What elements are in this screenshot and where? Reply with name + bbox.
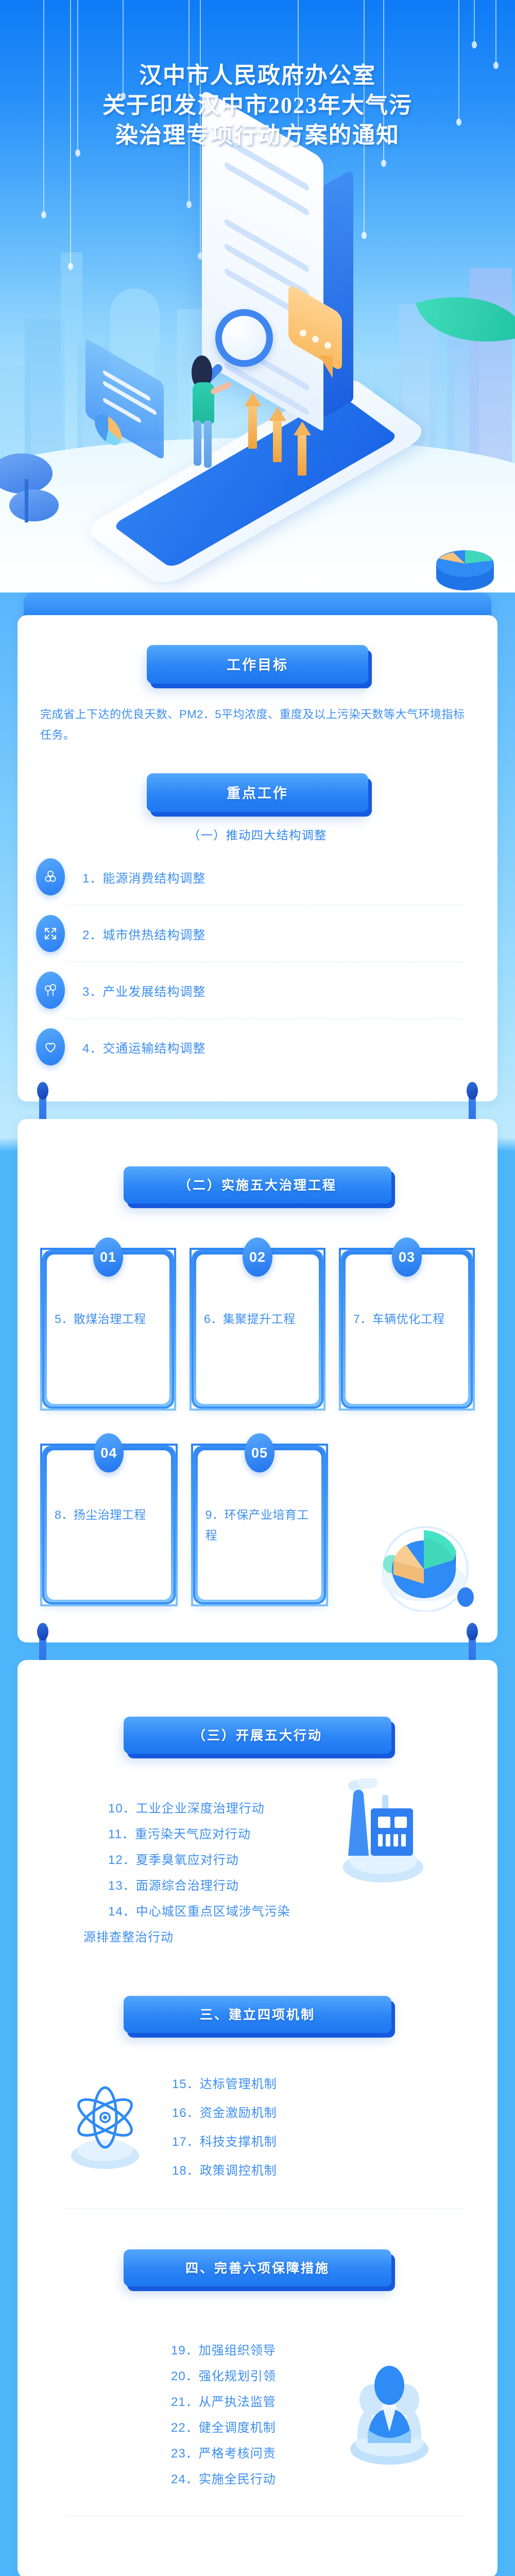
- search-icon: [215, 309, 273, 367]
- section-goal-pill[interactable]: 工作目标: [147, 645, 368, 684]
- avatar-body: [193, 382, 214, 423]
- section-projects-pill[interactable]: （二）实施五大治理工程: [124, 1166, 391, 1204]
- growth-arrow-stem: [273, 421, 282, 462]
- list-item[interactable]: 16．资金激励机制: [172, 2099, 497, 2128]
- list-item[interactable]: 18．政策调控机制: [172, 2157, 497, 2185]
- growth-arrow-icon: [269, 407, 286, 421]
- project-card[interactable]: 02 6．集聚提升工程: [190, 1248, 325, 1411]
- card-inner: [47, 1255, 169, 1404]
- dotted-divider: [67, 2515, 465, 2516]
- card-inner: [346, 1255, 468, 1404]
- hero-banner: 汉中市人民政府办公室 关于印发汉中市2023年大气污 染治理专项行动方案的通知: [0, 0, 515, 592]
- list-item-continued: 源排查整治行动: [18, 1925, 497, 1951]
- user-group-icon: [342, 2352, 440, 2471]
- section-safeguards-header: 四、完善六项保障措施: [18, 2249, 497, 2286]
- title-line-1: 汉中市人民政府办公室: [0, 61, 515, 91]
- list-item[interactable]: 3．产业发展结构调整: [67, 961, 465, 1018]
- actions-block: 10．工业企业深度治理行动 11．重污染天气应对行动 12．夏季臭氧应对行动 1…: [18, 1788, 497, 1956]
- pie-chart-illustration: [426, 530, 504, 591]
- pie-illustration-slot: [341, 1444, 475, 1606]
- panel-actions: （三）开展五大行动: [18, 1660, 497, 2576]
- section-actions-pill[interactable]: （三）开展五大行动: [124, 1717, 391, 1754]
- title-line-2: 关于印发汉中市2023年大气污: [0, 91, 515, 121]
- panel-projects: （二）实施五大治理工程 01 5．散煤治理工程 02 6．集聚提升工程 03 7…: [18, 1119, 497, 1642]
- expand-arrows-icon: [36, 915, 65, 952]
- growth-arrow-stem: [248, 406, 257, 449]
- card-label: 9．环保产业培育工程: [205, 1504, 319, 1546]
- growth-arrow-icon: [244, 393, 262, 406]
- section-divider: [0, 1642, 515, 1660]
- growth-arrow-icon: [294, 421, 311, 435]
- chat-bubble-tail: [319, 355, 333, 378]
- list-item-label: 1．能源消费结构调整: [82, 868, 205, 886]
- tree-trunk: [25, 479, 28, 522]
- list-item[interactable]: 15．达标管理机制: [172, 2070, 497, 2099]
- card-number-badge: 03: [392, 1238, 422, 1277]
- section-divider: [0, 1101, 515, 1119]
- section-projects-header: （二）实施五大治理工程: [18, 1166, 497, 1204]
- project-card-row-2: 04 8．扬尘治理工程 05 9．环保产业培育工程: [18, 1444, 497, 1606]
- list-item-label: 3．产业发展结构调整: [82, 981, 205, 999]
- card-number-badge: 02: [243, 1238, 272, 1277]
- heart-icon: [36, 1028, 65, 1065]
- section-safeguards-pill[interactable]: 四、完善六项保障措施: [124, 2249, 391, 2286]
- trees-icon: [36, 972, 65, 1009]
- chat-dot: [324, 342, 331, 349]
- avatar-leg: [194, 420, 201, 466]
- section-key-work-header: 重点工作: [18, 773, 497, 812]
- project-card[interactable]: 03 7．车辆优化工程: [339, 1248, 475, 1411]
- avatar-arm: [210, 381, 232, 395]
- project-card[interactable]: 05 9．环保产业培育工程: [191, 1444, 329, 1606]
- title-line-3: 染治理专项行动方案的通知: [0, 121, 515, 150]
- atom-orbital-icon: [58, 2073, 156, 2176]
- section-goal-body: 完成省上下达的优良天数、PM2．5平均浓度、重度及以上污染天数等大气环境指标任务…: [18, 704, 497, 745]
- list-item[interactable]: 14．中心城区重点区域涉气污染: [18, 1899, 497, 1925]
- list-item[interactable]: 1．能源消费结构调整: [18, 849, 497, 905]
- list-item[interactable]: 17．科技支撑机制: [172, 2128, 497, 2157]
- section-key-work-pill[interactable]: 重点工作: [147, 773, 368, 812]
- project-card[interactable]: 04 8．扬尘治理工程: [40, 1444, 178, 1606]
- mechanisms-block: 15．达标管理机制 16．资金激励机制 17．科技支撑机制 18．政策调控机制: [18, 2070, 497, 2209]
- key-work-list: 1．能源消费结构调整 2．城市供热结构调整: [18, 846, 497, 1084]
- dotted-divider: [67, 2208, 465, 2209]
- card-label: 7．车辆优化工程: [353, 1309, 466, 1329]
- tree-icon: [9, 489, 59, 521]
- list-item-label: 4．交通运输结构调整: [82, 1038, 205, 1056]
- section-mechanisms-header: 三、建立四项机制: [18, 1996, 497, 2033]
- infographic-poster: 汉中市人民政府办公室 关于印发汉中市2023年大气污 染治理专项行动方案的通知: [0, 0, 515, 2576]
- section-actions-header: （三）开展五大行动: [18, 1717, 497, 1754]
- card-inner: [47, 1450, 171, 1600]
- section-mechanisms-pill[interactable]: 三、建立四项机制: [124, 1996, 391, 2033]
- card-label: 8．扬尘治理工程: [55, 1504, 168, 1525]
- project-card[interactable]: 01 5．散煤治理工程: [40, 1248, 176, 1411]
- project-card-row-1: 01 5．散煤治理工程 02 6．集聚提升工程 03 7．车辆优化工程: [18, 1248, 497, 1411]
- list-item[interactable]: 4．交通运输结构调整: [67, 1018, 465, 1075]
- card-label: 5．散煤治理工程: [55, 1309, 167, 1329]
- list-item[interactable]: 2．城市供热结构调整: [67, 905, 465, 961]
- card-number-badge: 01: [93, 1238, 123, 1277]
- pie-chart-3d: [370, 1509, 478, 1612]
- card-label: 6．集聚提升工程: [204, 1309, 316, 1329]
- card-number-badge: 04: [94, 1433, 124, 1472]
- section-goal-header: 工作目标: [18, 645, 497, 684]
- card-number-badge: 05: [245, 1433, 274, 1472]
- chat-dot: [300, 330, 306, 336]
- atom-icon: [36, 858, 65, 895]
- growth-arrow-stem: [298, 435, 306, 476]
- avatar-leg: [204, 420, 212, 468]
- panel-key-work: 工作目标 完成省上下达的优良天数、PM2．5平均浓度、重度及以上污染天数等大气环…: [18, 615, 497, 1101]
- factory-icon: [334, 1778, 432, 1887]
- subsection-one-heading: （一）推动四大结构调整: [18, 812, 497, 846]
- card-inner: [196, 1255, 319, 1404]
- safeguards-block: 19．加强组织领导 20．强化规划引领 21．从严执法监管 22．健全调度机制 …: [18, 2330, 497, 2516]
- chat-dot: [312, 336, 319, 343]
- list-item-label: 2．城市供热结构调整: [82, 925, 205, 943]
- page-title: 汉中市人民政府办公室 关于印发汉中市2023年大气污 染治理专项行动方案的通知: [0, 0, 515, 150]
